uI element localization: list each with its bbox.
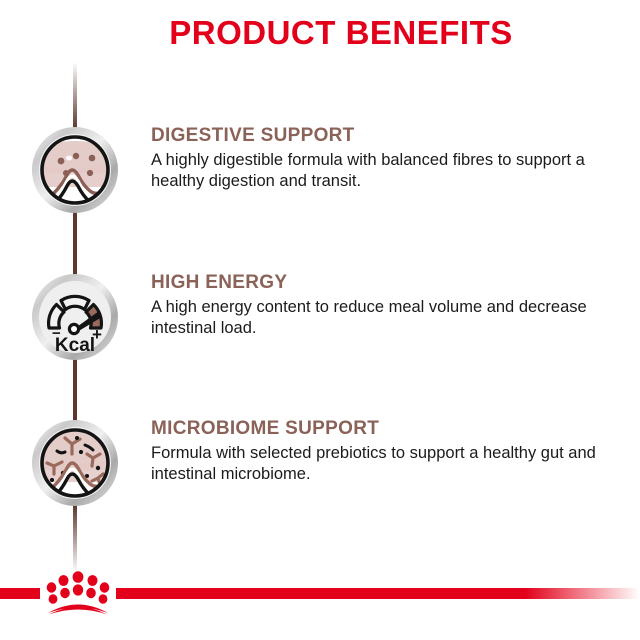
benefit-heading: DIGESTIVE SUPPORT — [151, 125, 629, 147]
microbiome-support-icon — [30, 418, 120, 508]
gauge-kcal-label: Kcal — [55, 335, 95, 356]
benefit-body: A highly digestible formula with balance… — [151, 150, 629, 192]
benefit-body: A high energy content to reduce meal vol… — [151, 297, 629, 339]
benefit-text-block: MICROBIOME SUPPORT Formula with selected… — [151, 418, 629, 485]
benefit-text-block: HIGH ENERGY A high energy content to red… — [151, 272, 629, 339]
benefit-item-digestive-support: DIGESTIVE SUPPORT A highly digestible fo… — [0, 125, 640, 225]
royal-canin-crown-logo — [40, 566, 116, 618]
product-benefits-page: PRODUCT BENEFITS — [0, 0, 640, 640]
high-energy-kcal-gauge-icon: − + Kcal — [30, 272, 120, 362]
footer-brand-bar — [0, 566, 640, 618]
footer-bar-left-segment — [0, 588, 40, 599]
benefit-text-block: DIGESTIVE SUPPORT A highly digestible fo… — [151, 125, 629, 192]
benefit-heading: MICROBIOME SUPPORT — [151, 418, 629, 440]
benefit-body: Formula with selected prebiotics to supp… — [151, 443, 629, 485]
footer-bar-right-segment — [116, 588, 640, 599]
page-title: PRODUCT BENEFITS — [0, 14, 640, 52]
digestive-support-icon — [30, 125, 120, 215]
benefit-heading: HIGH ENERGY — [151, 272, 629, 294]
benefit-item-high-energy: − + Kcal HIGH ENERGY A high energy conte… — [0, 272, 640, 372]
benefit-item-microbiome-support: MICROBIOME SUPPORT Formula with selected… — [0, 418, 640, 518]
